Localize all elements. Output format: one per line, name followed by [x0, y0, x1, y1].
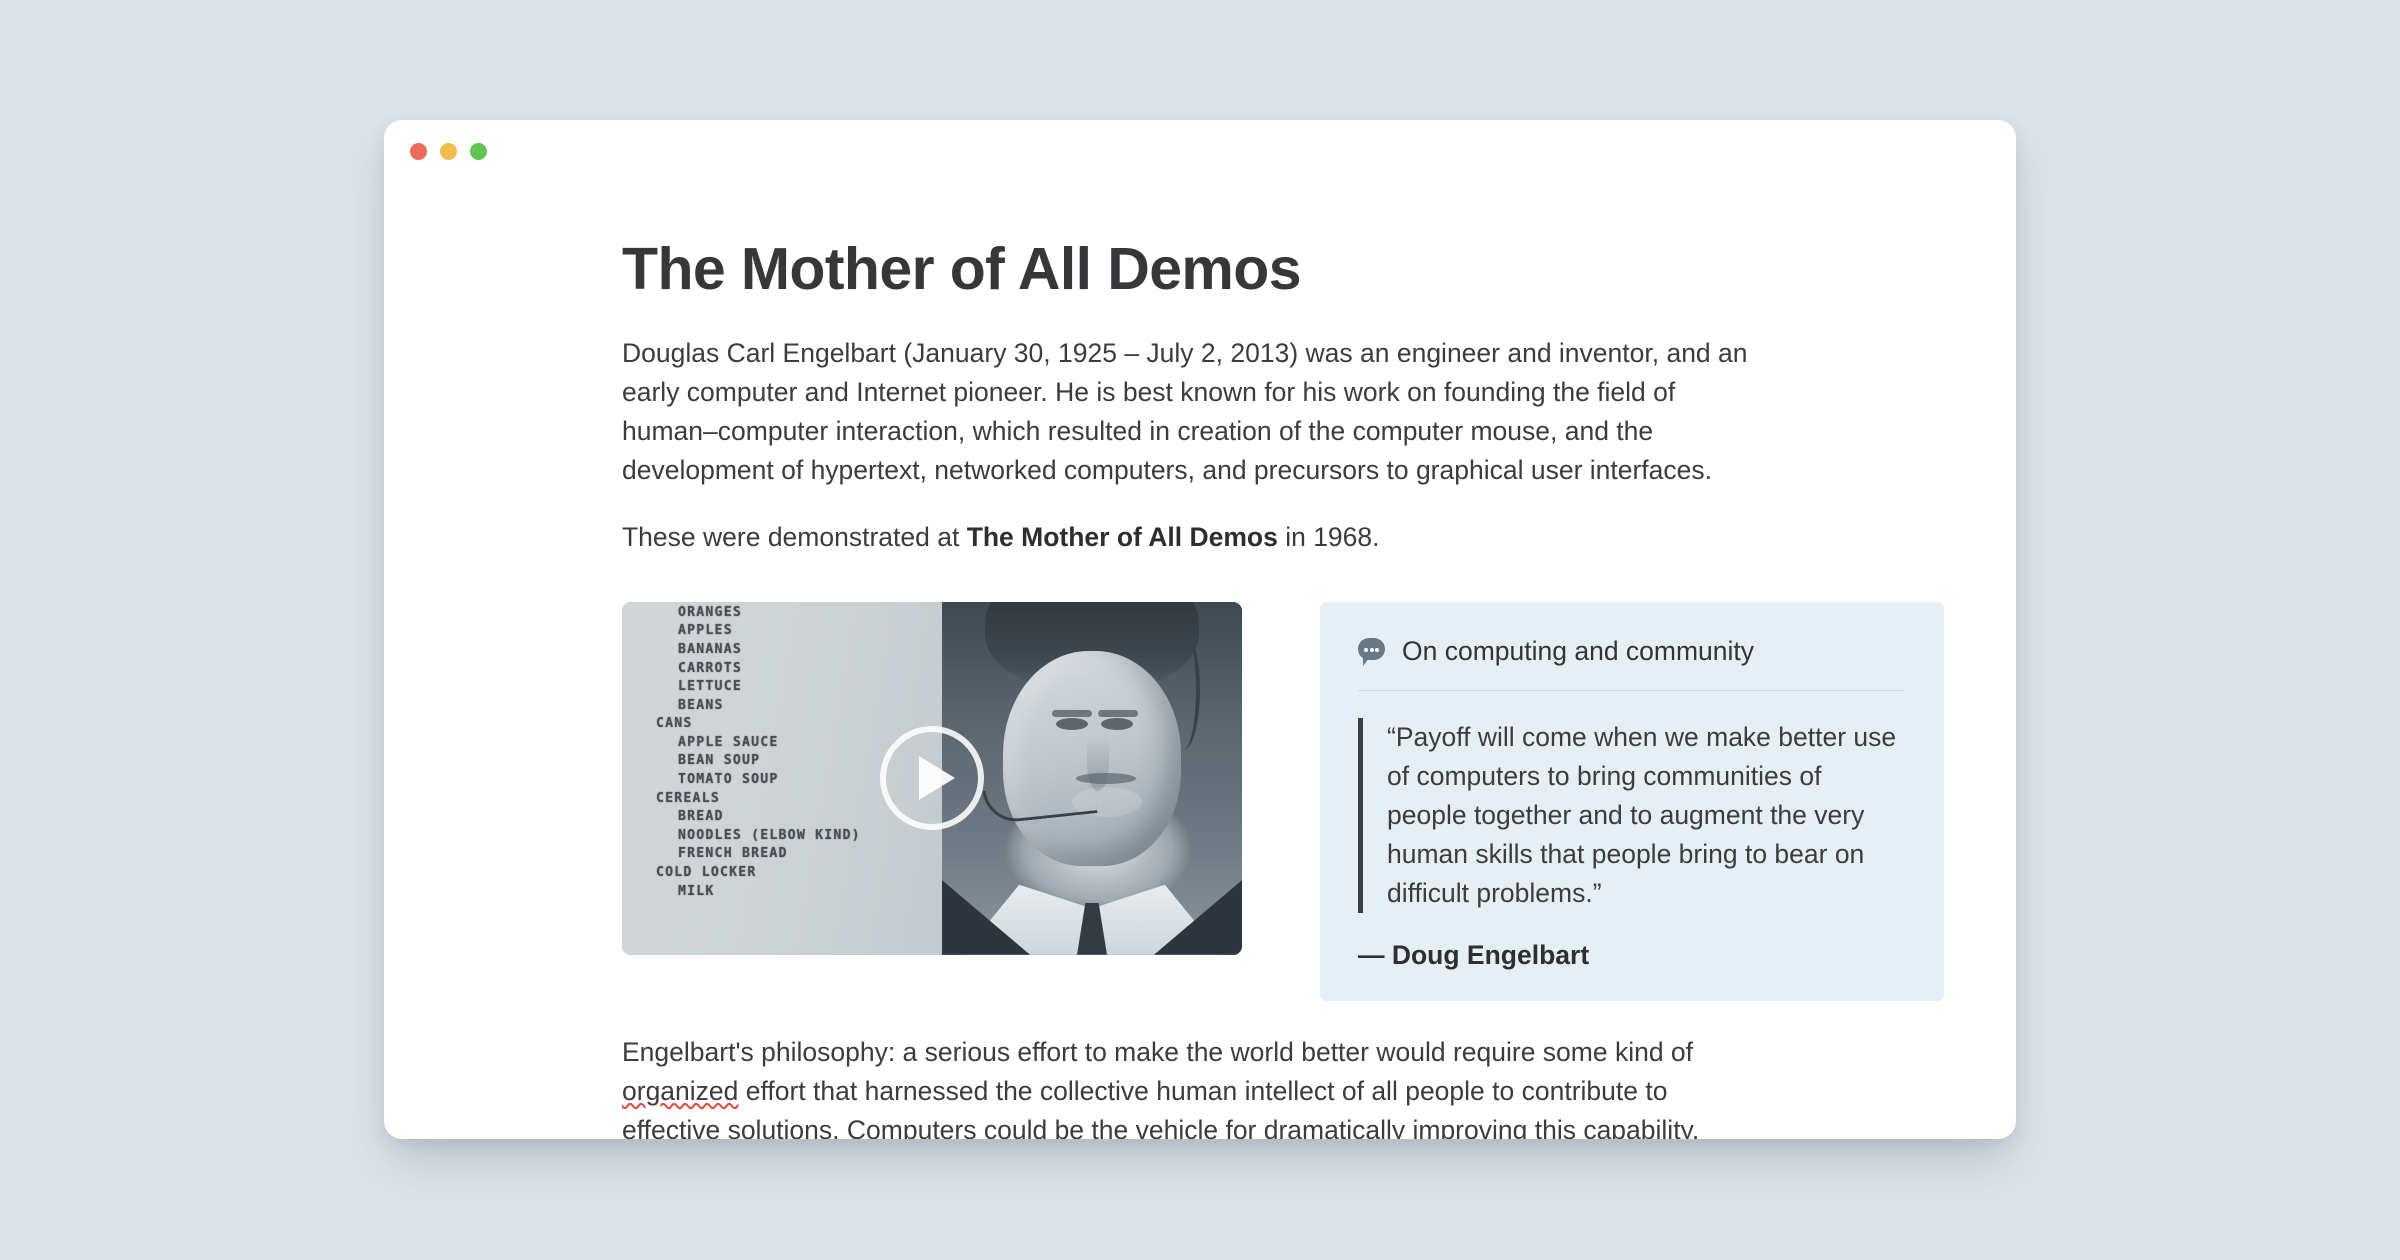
window-titlebar: [384, 120, 2016, 182]
portrait-face: [1003, 651, 1181, 866]
video-thumbnail[interactable]: ORANGESAPPLESBANANASCARROTSLETTUCEBEANSC…: [622, 602, 1242, 955]
play-icon[interactable]: [880, 726, 984, 830]
window-controls: [410, 143, 487, 160]
demos-paragraph-trail: in 1968.: [1278, 522, 1380, 552]
grocery-list-item: BEANS: [656, 697, 942, 716]
portrait-eye-left: [1056, 718, 1088, 730]
misspelled-word[interactable]: organized: [622, 1076, 738, 1106]
demos-paragraph: These were demonstrated at The Mother of…: [622, 518, 1757, 557]
quote-attribution: — Doug Engelbart: [1358, 940, 1904, 971]
grocery-list-item: BANANAS: [656, 641, 942, 660]
grocery-list-item: MILK: [656, 883, 942, 902]
portrait-eye-right: [1101, 718, 1133, 730]
speech-bubble-icon: [1358, 638, 1385, 665]
philosophy-part-1: Engelbart's philosophy: a serious effort…: [622, 1037, 1693, 1067]
quote-text: “Payoff will come when we make better us…: [1358, 718, 1904, 913]
grocery-list-item: NOODLES (ELBOW KIND): [656, 827, 942, 846]
grocery-list-item: CANS: [656, 715, 942, 734]
maximize-button[interactable]: [470, 143, 487, 160]
close-button[interactable]: [410, 143, 427, 160]
play-triangle: [919, 756, 955, 800]
portrait-brow-left: [1052, 710, 1092, 717]
philosophy-part-2: effort that harnessed the collective hum…: [622, 1076, 1699, 1139]
grocery-list-item: FRENCH BREAD: [656, 845, 942, 864]
philosophy-paragraph: Engelbart's philosophy: a serious effort…: [622, 1033, 1757, 1139]
quote-card: On computing and community “Payoff will …: [1320, 602, 1944, 1001]
intro-paragraph: Douglas Carl Engelbart (January 30, 1925…: [622, 334, 1757, 490]
headset-band: [1166, 630, 1200, 750]
grocery-list-item: CARROTS: [656, 660, 942, 679]
portrait-brow-right: [1098, 710, 1138, 717]
grocery-list-item: ORANGES: [656, 604, 942, 623]
grocery-list-item: APPLES: [656, 622, 942, 641]
app-window: The Mother of All Demos Douglas Carl Eng…: [384, 120, 2016, 1139]
grocery-list-item: COLD LOCKER: [656, 864, 942, 883]
media-row: ORANGESAPPLESBANANASCARROTSLETTUCEBEANSC…: [622, 602, 1944, 1001]
page-title: The Mother of All Demos: [622, 238, 1944, 302]
demos-paragraph-bold: The Mother of All Demos: [967, 522, 1278, 552]
article-content: The Mother of All Demos Douglas Carl Eng…: [384, 182, 2016, 1139]
demos-paragraph-lead: These were demonstrated at: [622, 522, 967, 552]
minimize-button[interactable]: [440, 143, 457, 160]
quote-card-divider: [1358, 690, 1904, 691]
quote-card-heading: On computing and community: [1402, 636, 1754, 668]
engelbart-portrait: [942, 602, 1242, 955]
grocery-list-item: LETTUCE: [656, 678, 942, 697]
quote-card-header: On computing and community: [1358, 636, 1904, 690]
